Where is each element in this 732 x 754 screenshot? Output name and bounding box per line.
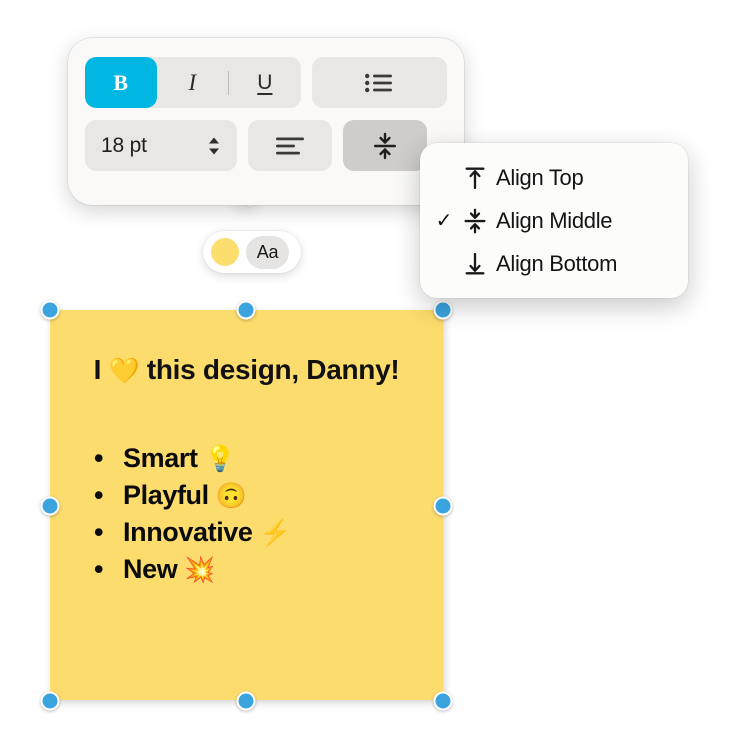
bullet-marker: • (94, 477, 103, 514)
list-item-label: New (123, 554, 184, 584)
vertical-align-menu: Align Top ✓ Align Middle Align Bot (420, 143, 688, 298)
italic-button[interactable]: I (157, 57, 229, 108)
lightning-bolt-icon: ⚡ (260, 519, 291, 547)
list-item: •Innovative ⚡ (92, 514, 421, 551)
align-left-icon (275, 135, 305, 157)
fill-color-swatch[interactable] (211, 238, 239, 266)
checkmark-icon: ✓ (430, 208, 458, 233)
list-item-label: Playful (123, 480, 216, 510)
list-item-label: Smart (123, 443, 205, 473)
canvas: I 💛 this design, Danny! •Smart 💡 •Playfu… (0, 0, 732, 754)
text-align-button[interactable] (248, 120, 332, 171)
align-middle-icon (458, 208, 492, 234)
sticky-note[interactable]: I 💛 this design, Danny! •Smart 💡 •Playfu… (50, 310, 443, 700)
bulleted-list-button[interactable] (312, 57, 447, 108)
bulleted-list-icon (364, 72, 394, 94)
note-heading: I 💛 this design, Danny! (72, 352, 421, 388)
upside-down-face-icon: 🙃 (216, 482, 247, 510)
toolbar-row-1: B I U (85, 57, 447, 108)
yellow-heart-icon: 💛 (109, 357, 140, 385)
bold-button[interactable]: B (85, 57, 157, 108)
font-size-value: 18 pt (101, 134, 147, 158)
bullet-marker: • (94, 514, 103, 551)
align-bottom-icon (458, 251, 492, 277)
menu-item-label: Align Middle (496, 208, 612, 234)
resize-handle-middle-right[interactable] (434, 497, 453, 516)
list-item: •Smart 💡 (92, 440, 421, 477)
resize-handle-bottom-left[interactable] (41, 692, 60, 711)
menu-item-align-top[interactable]: Align Top (420, 156, 688, 199)
note-bullet-list: •Smart 💡 •Playful 🙃 •Innovative ⚡ •New 💥 (72, 440, 421, 588)
list-item: •Playful 🙃 (92, 477, 421, 514)
resize-handle-middle-left[interactable] (41, 497, 60, 516)
resize-handle-top-right[interactable] (434, 301, 453, 320)
stepper-chevrons-icon[interactable] (207, 135, 221, 157)
style-pill[interactable]: Aa (203, 231, 301, 273)
resize-handle-bottom-center[interactable] (237, 692, 256, 711)
text-style-segmented-group: B I U (85, 57, 301, 108)
bullet-marker: • (94, 440, 103, 477)
toolbar-row-2: 18 pt (85, 120, 447, 171)
menu-item-label: Align Top (496, 165, 583, 191)
note-heading-after: this design, Danny! (139, 354, 399, 385)
underline-button[interactable]: U (229, 57, 301, 108)
list-item: •New 💥 (92, 551, 421, 588)
collision-icon: 💥 (184, 556, 215, 584)
format-toolbar-popover: B I U 18 (68, 38, 464, 205)
list-item-label: Innovative (123, 517, 260, 547)
note-heading-before: I (94, 354, 109, 385)
light-bulb-icon: 💡 (205, 445, 236, 473)
align-middle-icon (371, 132, 399, 160)
menu-item-align-middle[interactable]: ✓ Align Middle (420, 199, 688, 242)
resize-handle-top-left[interactable] (41, 301, 60, 320)
resize-handle-bottom-right[interactable] (434, 692, 453, 711)
menu-item-align-bottom[interactable]: Align Bottom (420, 242, 688, 285)
bullet-marker: • (94, 551, 103, 588)
resize-handle-top-center[interactable] (237, 301, 256, 320)
vertical-align-button[interactable] (343, 120, 427, 171)
font-size-field[interactable]: 18 pt (85, 120, 237, 171)
sticky-note-text-body[interactable]: I 💛 this design, Danny! •Smart 💡 •Playfu… (50, 310, 443, 700)
menu-item-label: Align Bottom (496, 251, 617, 277)
align-top-icon (458, 165, 492, 191)
text-style-button[interactable]: Aa (246, 236, 289, 269)
